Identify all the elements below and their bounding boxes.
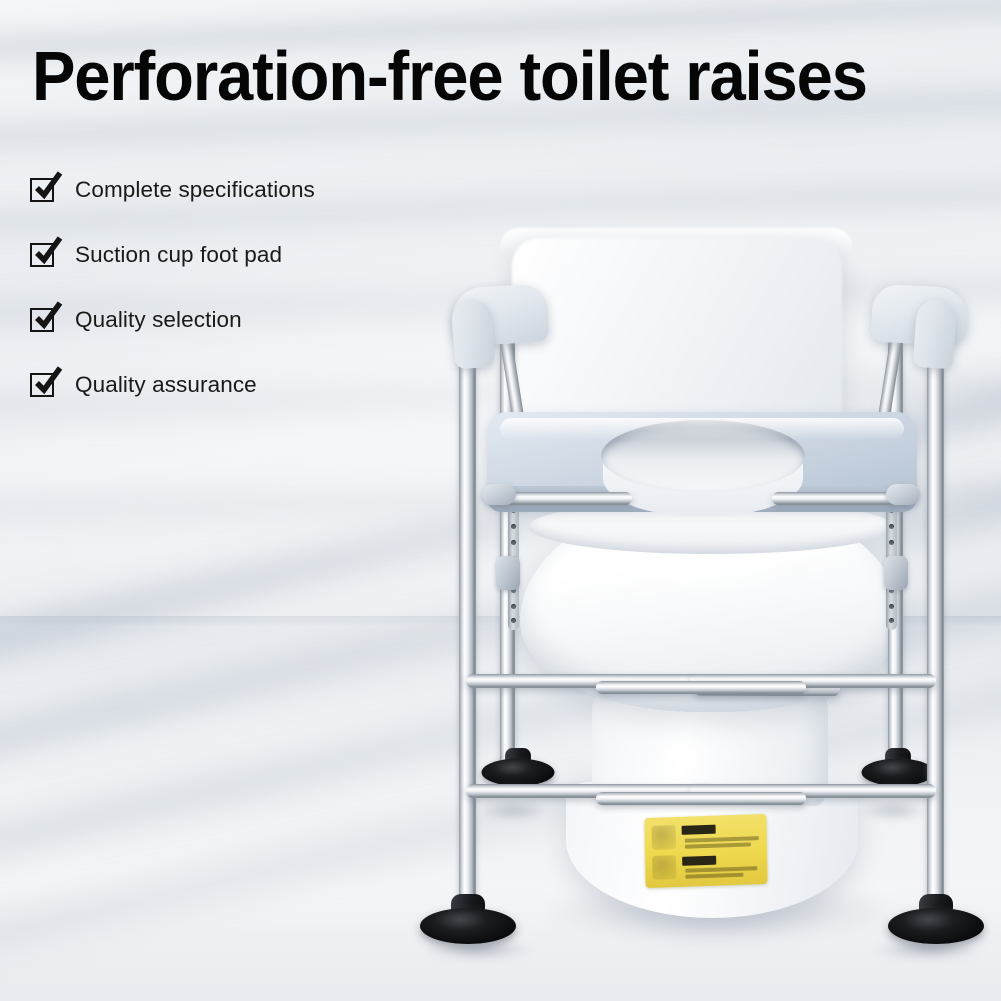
list-item-label: Quality assurance (75, 371, 257, 399)
checkbox-checked-icon (30, 371, 58, 399)
list-item-label: Suction cup foot pad (75, 241, 282, 269)
height-clamp-right[interactable] (884, 556, 908, 590)
seat-clamp-knob-right[interactable] (886, 484, 920, 505)
foot-shadow (478, 800, 548, 820)
frame-leg-front-left (459, 330, 476, 908)
suction-cup-foot-front-right (888, 894, 984, 944)
crossbar-upper-dip (596, 681, 806, 694)
crossbar-lower-dip (596, 792, 806, 805)
foot-shadow (858, 800, 928, 820)
list-item: Suction cup foot pad (30, 241, 315, 269)
product-banner: Perforation-free toilet raises Complete … (0, 0, 1001, 1001)
checkbox-checked-icon (30, 176, 58, 204)
list-item: Complete specifications (30, 176, 315, 204)
yellow-warning-label (644, 814, 767, 888)
frame-leg-front-right (927, 330, 944, 908)
suction-cup-foot-rear-left (482, 748, 555, 786)
suction-cup-foot-front-left (420, 894, 516, 944)
armrest-pad-right-grip (913, 299, 958, 370)
seat-clamp-knob-left[interactable] (482, 484, 516, 505)
toilet-tank (512, 238, 842, 438)
suction-cup-foot-rear-right (862, 748, 935, 786)
height-clamp-left[interactable] (496, 556, 520, 590)
page-title: Perforation-free toilet raises (32, 40, 906, 112)
list-item-label: Quality selection (75, 306, 242, 334)
armrest-pad-left-grip (451, 299, 496, 370)
list-item: Quality assurance (30, 371, 315, 399)
feature-list: Complete specifications Suction cup foot… (30, 176, 315, 436)
seat-highlight (500, 418, 904, 440)
checkbox-checked-icon (30, 306, 58, 334)
product-photo (0, 0, 1001, 1001)
checkbox-checked-icon (30, 241, 58, 269)
list-item-label: Complete specifications (75, 176, 315, 204)
list-item: Quality selection (30, 306, 315, 334)
